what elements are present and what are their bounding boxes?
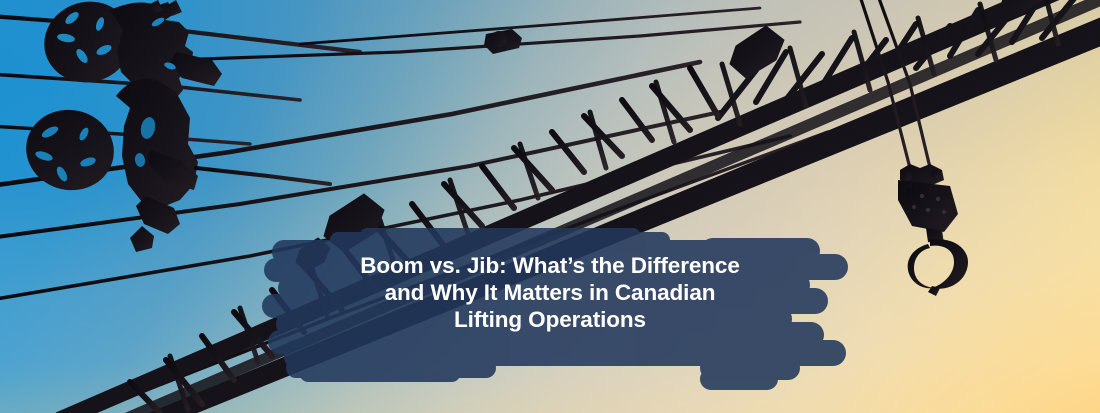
cable-clamp: [484, 29, 522, 54]
pulley-connector-body: [116, 78, 198, 252]
title-line-1: Boom vs. Jib: What’s the Difference: [300, 252, 800, 279]
banner-title: Boom vs. Jib: What’s the Difference and …: [300, 252, 800, 333]
title-line-2: and Why It Matters in Canadian: [300, 279, 800, 306]
hero-banner: Boom vs. Jib: What’s the Difference and …: [0, 0, 1100, 413]
sheave-pulley-block-lower: [19, 102, 122, 199]
title-line-3: Lifting Operations: [300, 306, 800, 333]
crane-silhouette-photo: [0, 0, 1100, 413]
block-hoist-rope: [196, 168, 330, 184]
hook-block: [898, 164, 968, 296]
